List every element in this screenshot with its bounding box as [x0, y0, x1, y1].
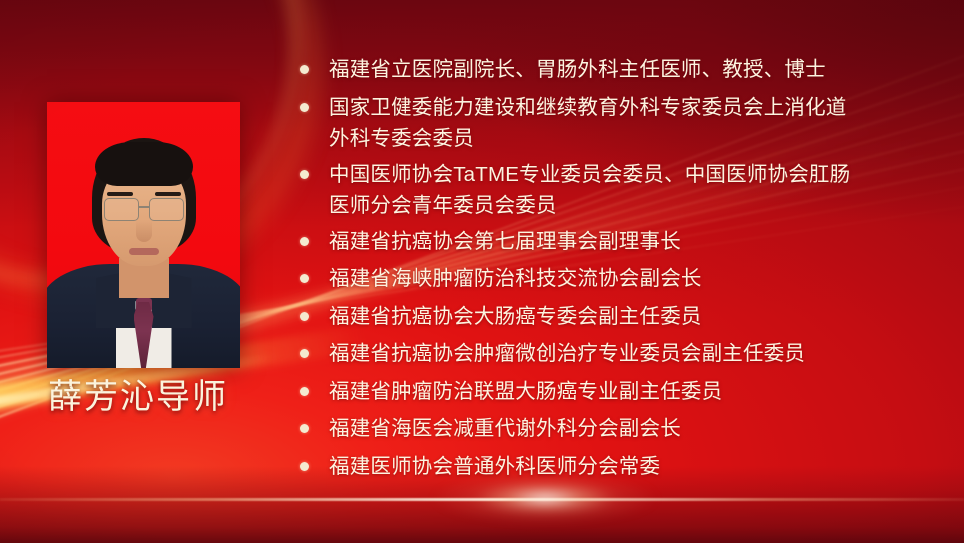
portrait-fringe: [95, 142, 193, 186]
credentials-list: 福建省立医院副院长、胃肠外科主任医师、教授、博士 国家卫健委能力建设和继续教育外…: [300, 54, 936, 488]
bullet-dot-icon: [300, 312, 309, 321]
portrait-eyebrow-right: [155, 192, 181, 196]
portrait-mouth: [129, 248, 159, 255]
bullet-dot-icon: [300, 424, 309, 433]
list-item: 福建省肿瘤防治联盟大肠癌专业副主任委员: [300, 376, 936, 407]
list-item: 福建省海峡肿瘤防治科技交流协会副会长: [300, 263, 936, 294]
portrait-eyebrow-left: [107, 192, 133, 196]
portrait-image: [47, 102, 240, 368]
bullet-dot-icon: [300, 237, 309, 246]
list-item: 中国医师协会TaTME专业委员会委员、中国医师协会肛肠 医师分会青年委员会委员: [300, 159, 936, 221]
list-item: 福建省立医院副院长、胃肠外科主任医师、教授、博士: [300, 54, 936, 85]
credential-text: 福建省抗癌协会第七届理事会副理事长: [329, 226, 936, 257]
list-item: 福建医师协会普通外科医师分会常委: [300, 451, 936, 482]
credential-text: 国家卫健委能力建设和继续教育外科专家委员会上消化道 外科专委会委员: [329, 92, 936, 154]
list-item: 国家卫健委能力建设和继续教育外科专家委员会上消化道 外科专委会委员: [300, 92, 936, 154]
bullet-dot-icon: [300, 103, 309, 112]
bullet-dot-icon: [300, 349, 309, 358]
credential-text: 福建省肿瘤防治联盟大肠癌专业副主任委员: [329, 376, 936, 407]
list-item: 福建省海医会减重代谢外科分会副会长: [300, 413, 936, 444]
list-item: 福建省抗癌协会第七届理事会副理事长: [300, 226, 936, 257]
bullet-dot-icon: [300, 387, 309, 396]
credential-text: 福建省立医院副院长、胃肠外科主任医师、教授、博士: [329, 54, 936, 85]
speaker-photo: [47, 102, 240, 368]
credential-text: 福建省海医会减重代谢外科分会副会长: [329, 413, 936, 444]
list-item: 福建省抗癌协会大肠癌专委会副主任委员: [300, 301, 936, 332]
speaker-intro-slide: 薛芳沁导师 福建省立医院副院长、胃肠外科主任医师、教授、博士 国家卫健委能力建设…: [0, 0, 964, 543]
credential-text: 福建省海峡肿瘤防治科技交流协会副会长: [329, 263, 936, 294]
bullet-dot-icon: [300, 274, 309, 283]
portrait-nose: [136, 220, 152, 242]
speaker-name-caption: 薛芳沁导师: [48, 374, 298, 420]
bullet-dot-icon: [300, 170, 309, 179]
credential-text: 福建医师协会普通外科医师分会常委: [329, 451, 936, 482]
glasses-icon: [102, 198, 186, 220]
credential-text: 福建省抗癌协会大肠癌专委会副主任委员: [329, 301, 936, 332]
list-item: 福建省抗癌协会肿瘤微创治疗专业委员会副主任委员: [300, 338, 936, 369]
bullet-dot-icon: [300, 462, 309, 471]
credential-text: 中国医师协会TaTME专业委员会委员、中国医师协会肛肠 医师分会青年委员会委员: [329, 159, 936, 221]
bullet-dot-icon: [300, 65, 309, 74]
credential-text: 福建省抗癌协会肿瘤微创治疗专业委员会副主任委员: [329, 338, 936, 369]
